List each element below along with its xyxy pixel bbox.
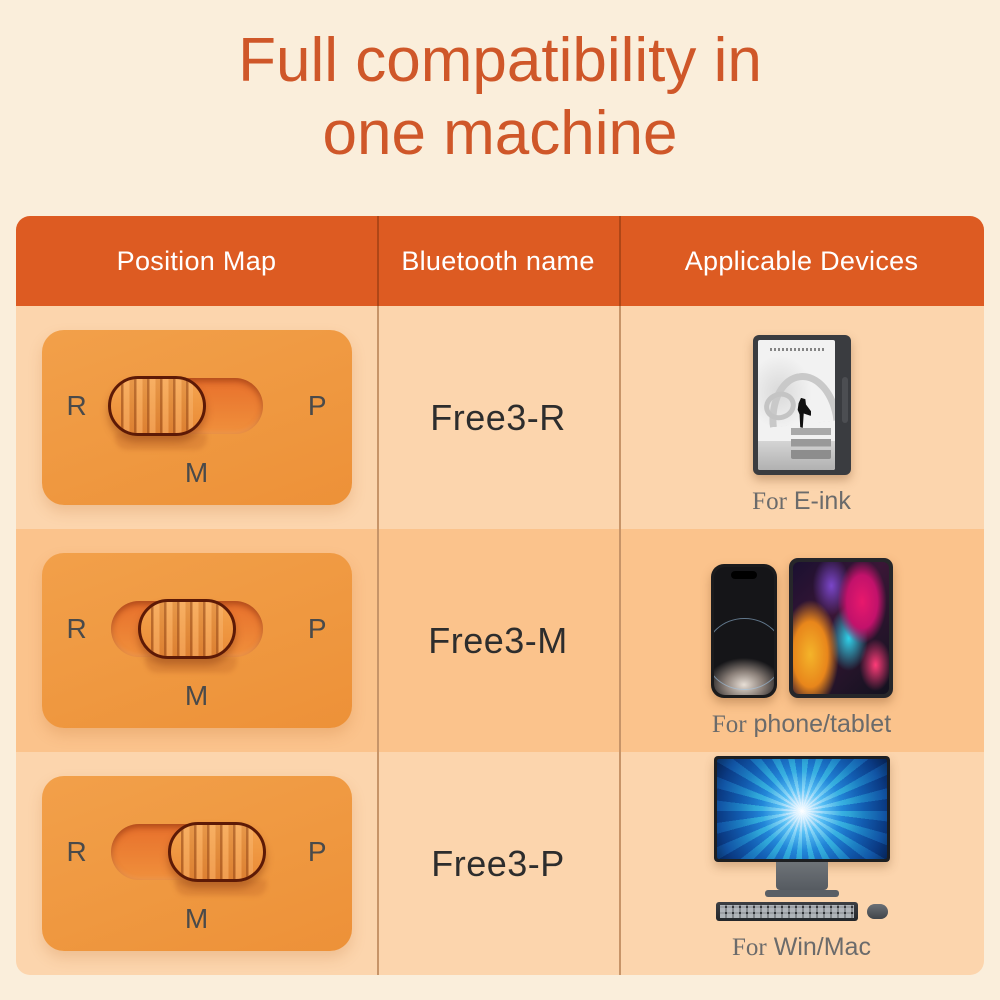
switch-graphic-p: R P M [42, 776, 352, 951]
bluetooth-name-value: Free3-R [430, 397, 566, 439]
applicable-devices-cell: For Win/Mac [619, 752, 984, 975]
desktop-computer-icon [714, 756, 890, 921]
device-caption: For Win/Mac [732, 933, 871, 962]
switch-label-m: M [42, 682, 352, 710]
switch-track [111, 824, 263, 880]
device-art-ereader [753, 320, 851, 475]
column-header-applicable-devices: Applicable Devices [619, 216, 984, 306]
column-header-position-map: Position Map [16, 216, 377, 306]
switch-label-p: P [308, 392, 327, 420]
switch-label-p: P [308, 615, 327, 643]
switch-knob-shadow [175, 880, 267, 896]
page-title-line-2: one machine [0, 97, 1000, 170]
table-row: R P M Free3-R [16, 306, 984, 529]
device-caption-prefix: For [752, 488, 787, 515]
column-header-position-map-label: Position Map [117, 246, 277, 277]
monitor-stand-base [765, 890, 839, 897]
ereader-icon [753, 335, 851, 475]
ereader-side-bar [842, 377, 848, 423]
position-map-cell: R P M [16, 306, 377, 529]
table-row: R P M Free3-M [16, 529, 984, 752]
applicable-devices-cell: For phone/tablet [619, 529, 984, 752]
monitor-icon [714, 756, 890, 862]
switch-knob [108, 376, 206, 436]
device-art-phone-tablet [711, 543, 893, 698]
switch-knob-ribs [121, 379, 193, 433]
device-caption-value: phone/tablet [754, 710, 892, 738]
bluetooth-name-value: Free3-P [431, 843, 565, 885]
switch-label-m: M [42, 459, 352, 487]
device-caption: For phone/tablet [712, 710, 891, 739]
phone-wallpaper-curve [714, 618, 774, 690]
switch-knob-ribs [151, 602, 223, 656]
position-map-cell: R P M [16, 752, 377, 975]
tablet-icon [789, 558, 893, 698]
phone-notch [731, 571, 757, 579]
table-header-row: Position Map Bluetooth name Applicable D… [16, 216, 984, 306]
monitor-stand-neck [776, 862, 828, 890]
device-caption-prefix: For [732, 934, 767, 961]
device-caption-value: Win/Mac [774, 933, 871, 961]
switch-label-r: R [67, 615, 87, 643]
switch-knob-shadow [115, 434, 207, 450]
mouse-icon [867, 904, 888, 919]
page-title-line-1: Full compatibility in [0, 24, 1000, 97]
device-caption-prefix: For [712, 711, 747, 738]
switch-graphic-r: R P M [42, 330, 352, 505]
switch-label-p: P [308, 838, 327, 866]
ereader-screen [758, 340, 835, 470]
device-caption-value: E-ink [794, 487, 851, 515]
peripherals-row [716, 902, 888, 921]
column-header-applicable-devices-label: Applicable Devices [685, 246, 919, 277]
column-header-bluetooth-name: Bluetooth name [377, 216, 619, 306]
ereader-title-text [770, 348, 825, 351]
table-row: R P M Free3-P [16, 752, 984, 975]
keyboard-icon [716, 902, 858, 921]
bluetooth-name-cell: Free3-P [377, 752, 619, 975]
applicable-devices-cell: For E-ink [619, 306, 984, 529]
page-title: Full compatibility in one machine [0, 24, 1000, 170]
switch-label-r: R [67, 838, 87, 866]
switch-knob-shadow [145, 657, 237, 673]
bluetooth-name-cell: Free3-M [377, 529, 619, 752]
switch-track [111, 601, 263, 657]
column-header-bluetooth-name-label: Bluetooth name [401, 246, 594, 277]
switch-label-m: M [42, 905, 352, 933]
phone-screen [714, 567, 774, 695]
bluetooth-name-value: Free3-M [428, 620, 568, 662]
tablet-screen [793, 562, 889, 694]
compatibility-table: Position Map Bluetooth name Applicable D… [16, 216, 984, 975]
position-map-cell: R P M [16, 529, 377, 752]
device-art-desktop [714, 766, 890, 921]
device-caption: For E-ink [752, 487, 851, 516]
switch-label-r: R [67, 392, 87, 420]
bluetooth-name-cell: Free3-R [377, 306, 619, 529]
switch-knob-ribs [181, 825, 253, 879]
ereader-books-shape [791, 415, 831, 459]
switch-knob [168, 822, 266, 882]
switch-knob [138, 599, 236, 659]
switch-graphic-m: R P M [42, 553, 352, 728]
switch-track [111, 378, 263, 434]
monitor-screen [717, 759, 887, 859]
phone-icon [711, 564, 777, 698]
